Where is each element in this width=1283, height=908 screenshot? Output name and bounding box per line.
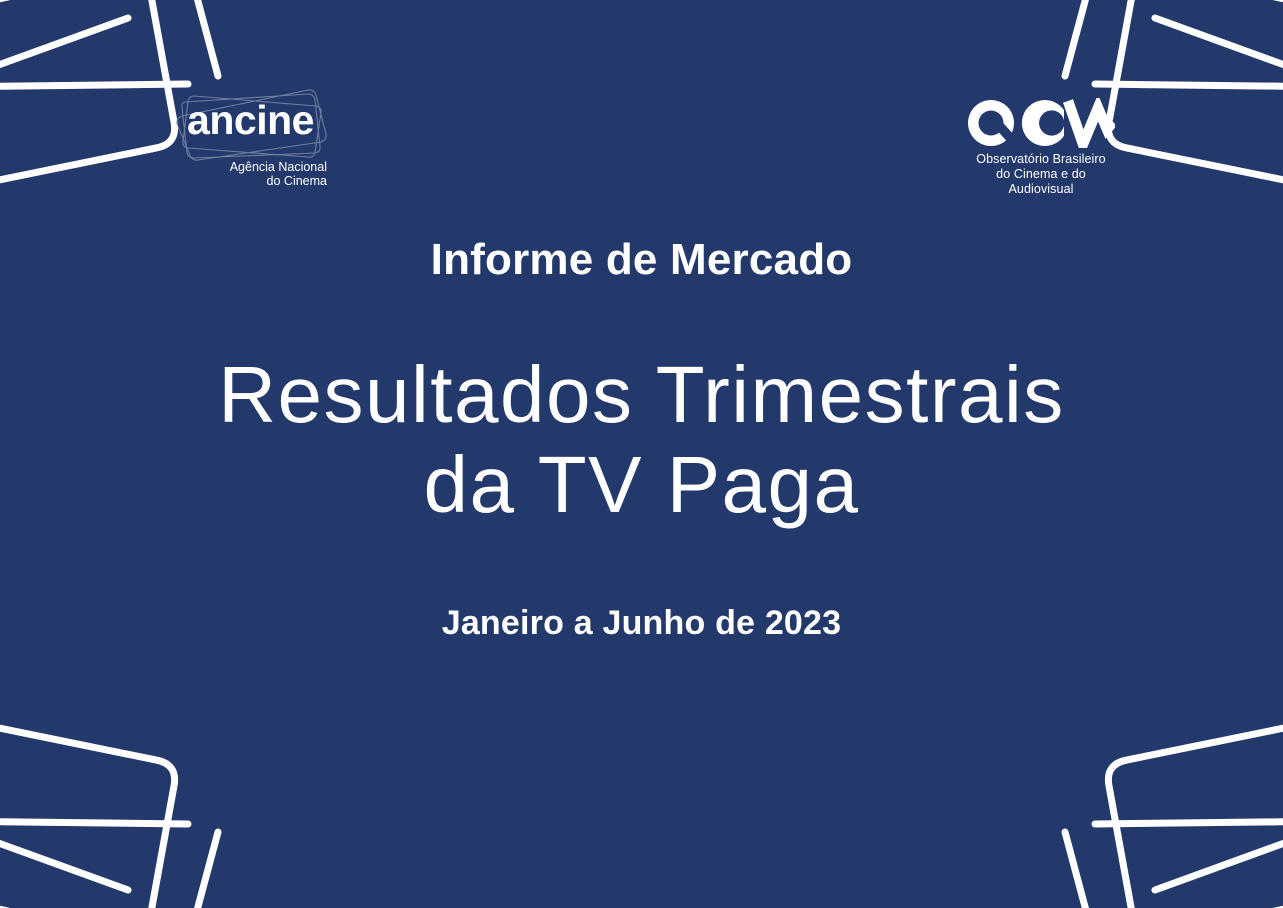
ancine-subtitle-line2: do Cinema	[168, 174, 327, 188]
date-range: Janeiro a Junho de 2023	[0, 604, 1283, 643]
ancine-subtitle: Agência Nacional do Cinema	[168, 160, 333, 189]
page-title: Resultados Trimestrais da TV Paga	[0, 350, 1283, 529]
oca-logo-icon	[967, 98, 1115, 148]
ancine-logo-mark: ancine	[168, 86, 333, 162]
page-title-line2: da TV Paga	[0, 440, 1283, 530]
ancine-logo: ancine Agência Nacional do Cinema	[168, 86, 333, 194]
ancine-wordmark: ancine	[168, 100, 333, 141]
corner-decoration-bottom-left	[0, 700, 218, 908]
ancine-subtitle-line1: Agência Nacional	[168, 160, 327, 174]
oca-subtitle: Observatório Brasileiro do Cinema e do A…	[967, 152, 1115, 197]
corner-decoration-bottom-right	[1065, 700, 1283, 908]
oca-logo: Observatório Brasileiro do Cinema e do A…	[967, 98, 1115, 197]
cover-content: Informe de Mercado Resultados Trimestrai…	[0, 236, 1283, 643]
oca-subtitle-line2: do Cinema e do Audiovisual	[967, 167, 1115, 197]
page-title-line1: Resultados Trimestrais	[0, 350, 1283, 440]
cover-slide: ancine Agência Nacional do Cinema Observ…	[0, 0, 1283, 908]
oca-subtitle-line1: Observatório Brasileiro	[967, 152, 1115, 167]
kicker-text: Informe de Mercado	[0, 236, 1283, 284]
